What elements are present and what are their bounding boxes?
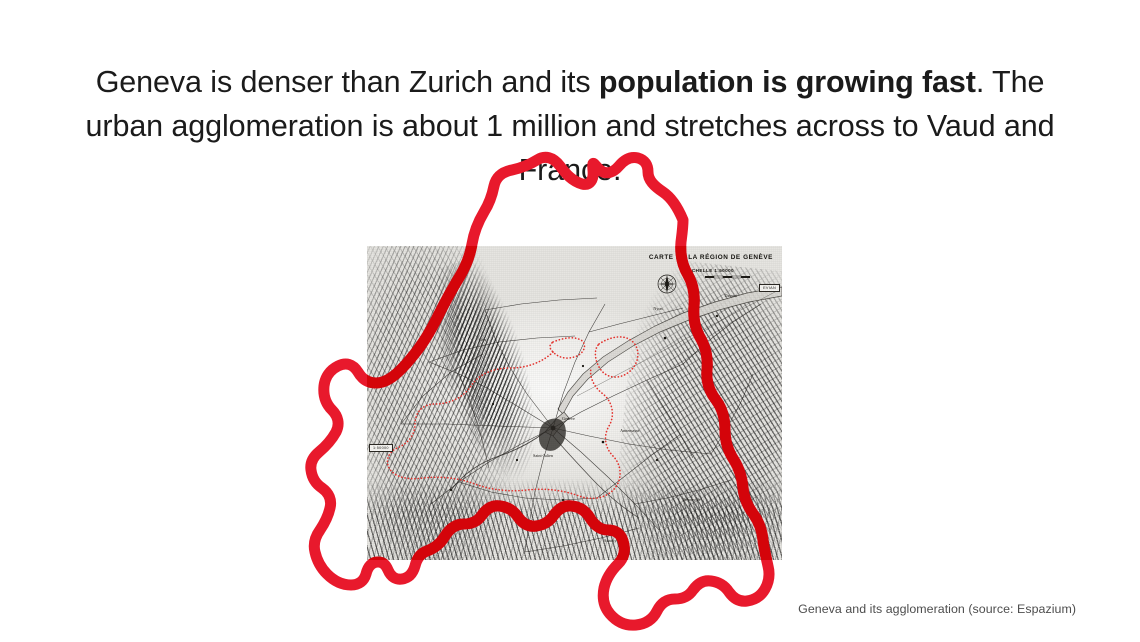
map-figure: CARTE DE LA RÉGION DE GENÈVE ECHELLE 1:5… [0, 0, 1140, 642]
figure-caption: Geneva and its agglomeration (source: Es… [798, 601, 1076, 617]
slide-root: Geneva is denser than Zurich and its pop… [0, 0, 1140, 642]
agglomeration-outline [0, 0, 1140, 642]
